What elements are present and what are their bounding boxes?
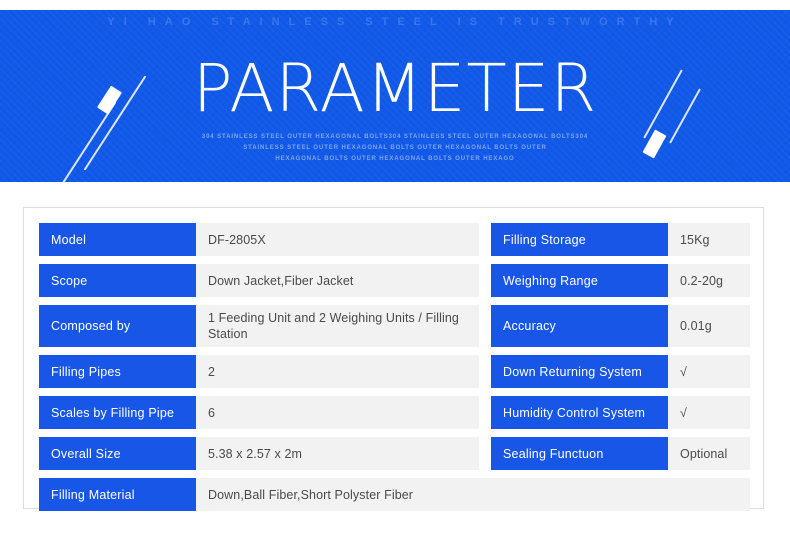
table-row: Filling Pipes 2 Down Returning System √ [39,355,750,388]
spec-pair-left: Filling Pipes 2 [39,355,479,388]
spec-value: 6 [196,396,479,429]
table-row: Composed by 1 Feeding Unit and 2 Weighin… [39,305,750,347]
banner-subtitle: 304 STAINLESS STEEL OUTER HEXAGONAL BOLT… [0,132,790,165]
table-row: Scope Down Jacket,Fiber Jacket Weighing … [39,264,750,297]
banner-subtitle-line-1: 304 STAINLESS STEEL OUTER HEXAGONAL BOLT… [0,132,790,143]
banner-tagline: YI HAO STAINLESS STEEL IS TRUSTWORTHY [0,16,790,28]
banner-subtitle-line-3: HEXAGONAL BOLTS OUTER HEXAGONAL BOLTS OU… [0,154,790,165]
spec-label: Scales by Filling Pipe [39,396,196,429]
spec-value: √ [668,396,750,429]
spec-label: Overall Size [39,437,196,470]
spec-value: 0.2-20g [668,264,750,297]
spec-value: 15Kg [668,223,750,256]
spec-pair-left: Overall Size 5.38 x 2.57 x 2m [39,437,479,470]
table-row: Model DF-2805X Filling Storage 15Kg [39,223,750,256]
spec-value: 2 [196,355,479,388]
spec-value: √ [668,355,750,388]
spec-pair-left: Scope Down Jacket,Fiber Jacket [39,264,479,297]
spec-label: Accuracy [491,305,668,347]
spec-label: Filling Storage [491,223,668,256]
spec-pair-right: Filling Storage 15Kg [491,223,750,256]
spec-value: 5.38 x 2.57 x 2m [196,437,479,470]
spec-pair-right: Down Returning System √ [491,355,750,388]
spec-pair-left: Composed by 1 Feeding Unit and 2 Weighin… [39,305,479,347]
spec-pair-right: Accuracy 0.01g [491,305,750,347]
spec-pair-left: Scales by Filling Pipe 6 [39,396,479,429]
spec-value-text: 1 Feeding Unit and 2 Weighing Units / Fi… [208,310,467,342]
spec-value: Down,Ball Fiber,Short Polyster Fiber [196,478,750,511]
spec-label: Filling Pipes [39,355,196,388]
spec-value: Down Jacket,Fiber Jacket [196,264,479,297]
spec-pair-right: Humidity Control System √ [491,396,750,429]
table-row: Overall Size 5.38 x 2.57 x 2m Sealing Fu… [39,437,750,470]
spec-value: 0.01g [668,305,750,347]
table-row-full-width: Filling Material Down,Ball Fiber,Short P… [39,478,750,511]
page-banner: YI HAO STAINLESS STEEL IS TRUSTWORTHY PA… [0,10,790,182]
banner-subtitle-line-2: STAINLESS STEEL OUTER HEXAGONAL BOLTS OU… [0,143,790,154]
spec-pair-right: Weighing Range 0.2-20g [491,264,750,297]
spec-label: Composed by [39,305,196,347]
spec-value: 1 Feeding Unit and 2 Weighing Units / Fi… [196,305,479,347]
spec-label: Humidity Control System [491,396,668,429]
spec-label: Weighing Range [491,264,668,297]
spec-label: Model [39,223,196,256]
spec-pair-right: Sealing Functuon Optional [491,437,750,470]
spec-value: Optional [668,437,750,470]
spec-label: Filling Material [39,478,196,511]
specification-table: Model DF-2805X Filling Storage 15Kg Scop… [39,223,750,511]
spec-label: Scope [39,264,196,297]
spec-pair-left: Model DF-2805X [39,223,479,256]
page-title: PARAMETER [0,54,790,124]
spec-label: Sealing Functuon [491,437,668,470]
specification-panel: Model DF-2805X Filling Storage 15Kg Scop… [23,207,764,509]
spec-label: Down Returning System [491,355,668,388]
spec-value: DF-2805X [196,223,479,256]
table-row: Scales by Filling Pipe 6 Humidity Contro… [39,396,750,429]
